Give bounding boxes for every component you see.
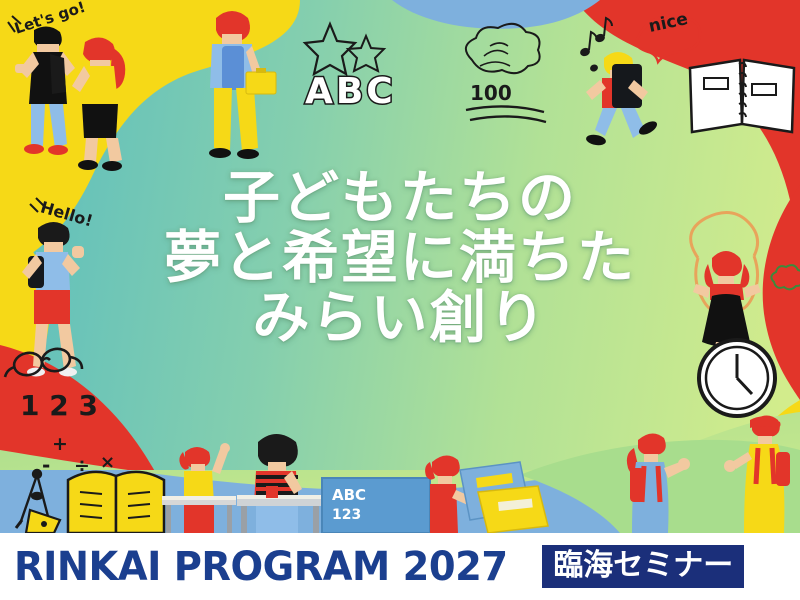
times-doodle: × (100, 452, 115, 473)
score-100-text: 100 (470, 81, 512, 105)
poster-artwork: Let's go! ABC 100 (0, 0, 800, 533)
poster-illustration: Let's go! ABC 100 (0, 0, 800, 533)
rinkai-seminar-logo-text: 臨海セミナー (553, 551, 733, 581)
abc-doodle-text: ABC (305, 71, 396, 112)
program-wordmark: RINKAI PROGRAM 2027 (14, 544, 508, 590)
digits-doodle-text: 1 2 3 (20, 389, 98, 422)
minus-doodle: - (42, 453, 50, 477)
clock-illustration (699, 340, 775, 416)
rinkai-seminar-logo[interactable]: 臨海セミナー (542, 545, 744, 588)
blackboard-line2: 123 (332, 507, 361, 523)
plus-doodle: + (52, 433, 68, 455)
blackboard-illustration: ABC 123 (322, 478, 430, 533)
footer-bar: RINKAI PROGRAM 2027 臨海セミナー (0, 533, 800, 600)
blackboard-line1: ABC (332, 486, 366, 504)
